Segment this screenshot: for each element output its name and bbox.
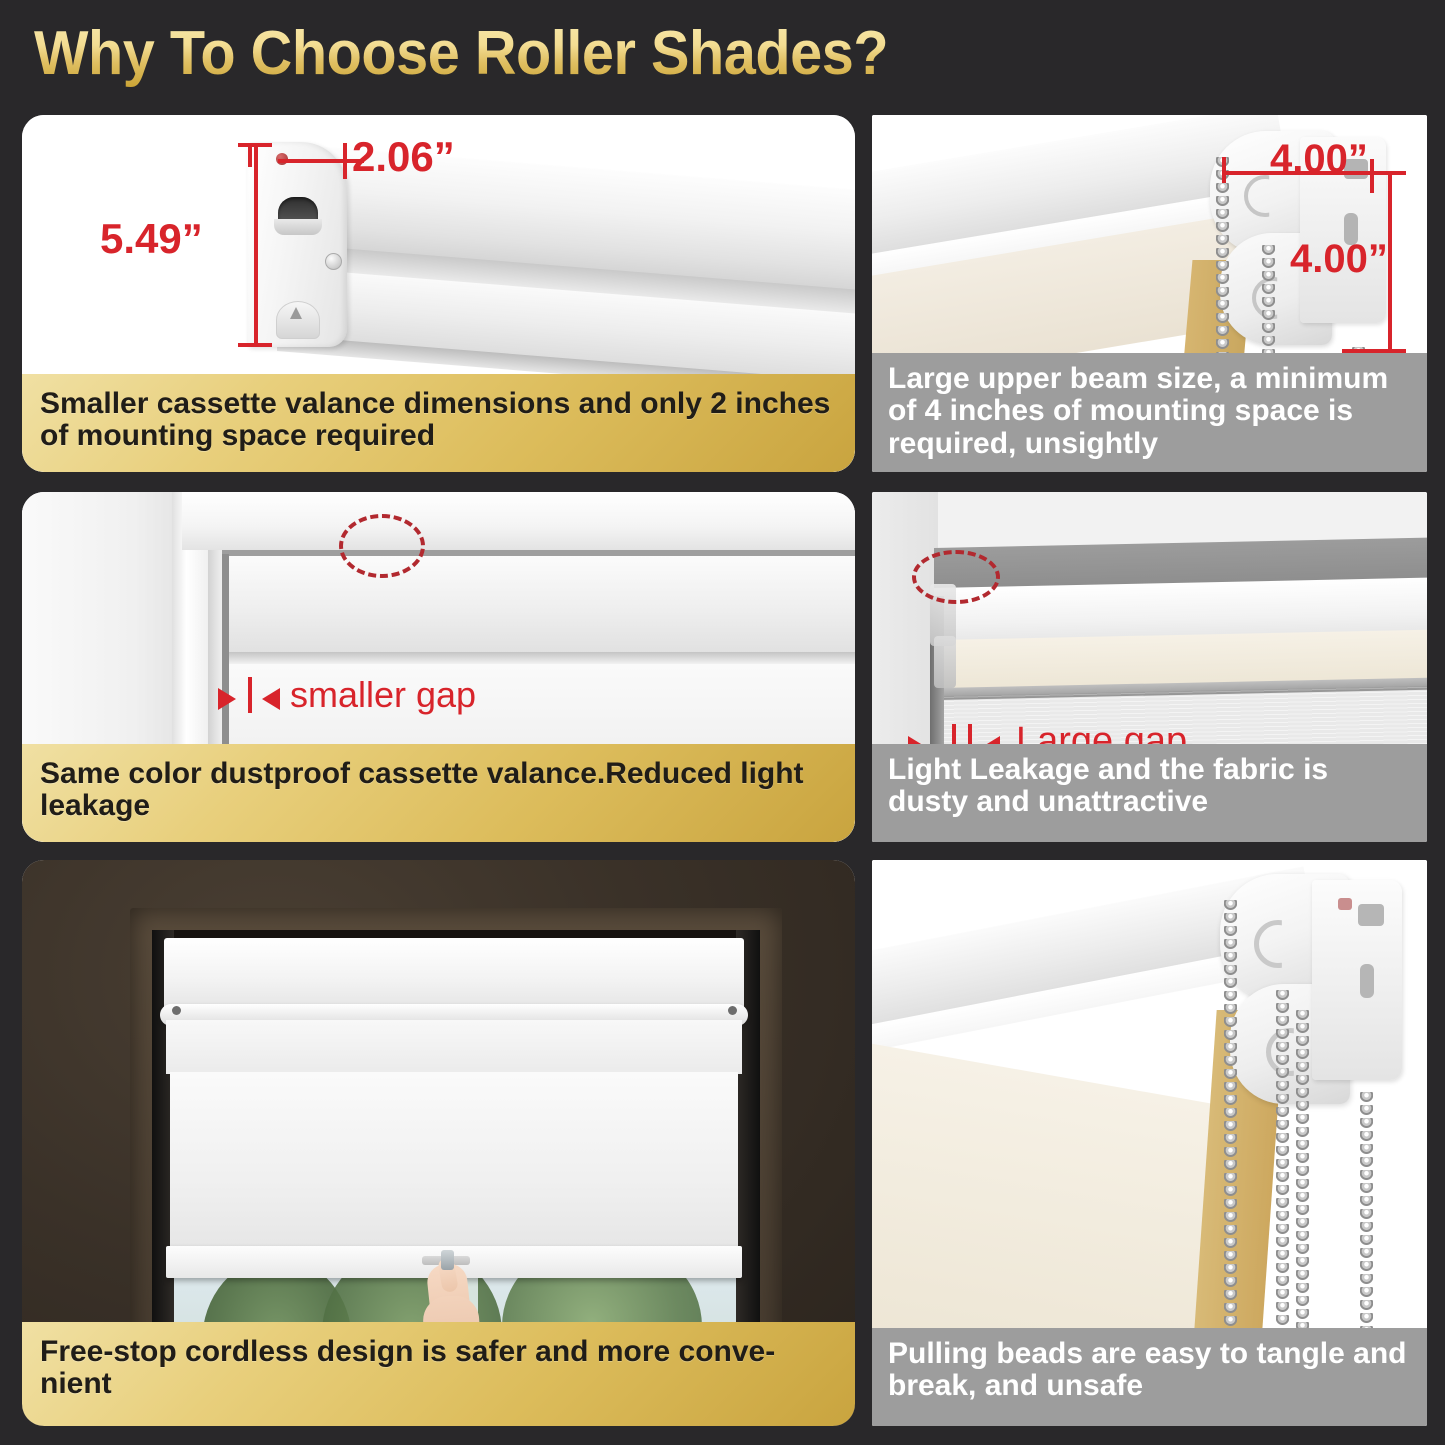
panel-pulling-beads: Pulling beads are easy to tangle and bre… xyxy=(872,860,1427,1426)
width-dimension-label: 2.06” xyxy=(352,133,455,181)
panel-cordless-design: Free-stop cordless design is safer and m… xyxy=(22,860,855,1426)
height-dimension-cap-top xyxy=(238,143,272,147)
infographic-page: Why To Choose Roller Shades? xyxy=(0,0,1445,1445)
gap-highlight-ellipse xyxy=(912,550,1000,604)
caption-panel-2: Large upper beam size, a minimum of 4 in… xyxy=(872,353,1427,472)
panel-smaller-cassette: 2.06” 5.49” Smaller cassette valance dim… xyxy=(22,115,855,472)
panel-large-beam: 4.00” 4.00” Large upper beam size, a min… xyxy=(872,115,1427,472)
beam-width-tick-right xyxy=(1370,159,1374,193)
height-dimension-line xyxy=(254,145,258,347)
beam-height-dimension-line xyxy=(1388,173,1392,353)
width-dimension-extension-right xyxy=(343,143,347,179)
beam-height-cap-top xyxy=(1370,171,1406,175)
beam-height-label: 4.00” xyxy=(1290,237,1388,282)
gap-arrow-right xyxy=(262,688,280,710)
caption-panel-3: Same color dustproof cassette valance.Re… xyxy=(22,744,855,842)
caption-panel-6: Pulling beads are easy to tangle and bre… xyxy=(872,1328,1427,1426)
caption-panel-1: Smaller cassette valance dimensions and … xyxy=(22,374,855,472)
height-dimension-cap-bottom xyxy=(238,343,272,347)
gap-tick xyxy=(248,677,252,713)
beam-width-label: 4.00” xyxy=(1270,137,1368,182)
beam-width-tick-left xyxy=(1222,157,1226,183)
panel-light-leakage: Large gap Light Leakage and the fabric i… xyxy=(872,492,1427,842)
gap-arrow-left xyxy=(218,688,236,710)
caption-panel-5: Free-stop cordless design is safer and m… xyxy=(22,1322,855,1426)
caption-panel-4: Light Leakage and the fabric is dusty an… xyxy=(872,744,1427,842)
page-title: Why To Choose Roller Shades? xyxy=(34,18,888,89)
smaller-gap-label: smaller gap xyxy=(290,674,476,716)
height-dimension-label: 5.49” xyxy=(100,215,203,263)
panel-dustproof-cassette: smaller gap Same color dustproof cassett… xyxy=(22,492,855,842)
gap-highlight-ellipse xyxy=(339,514,425,578)
